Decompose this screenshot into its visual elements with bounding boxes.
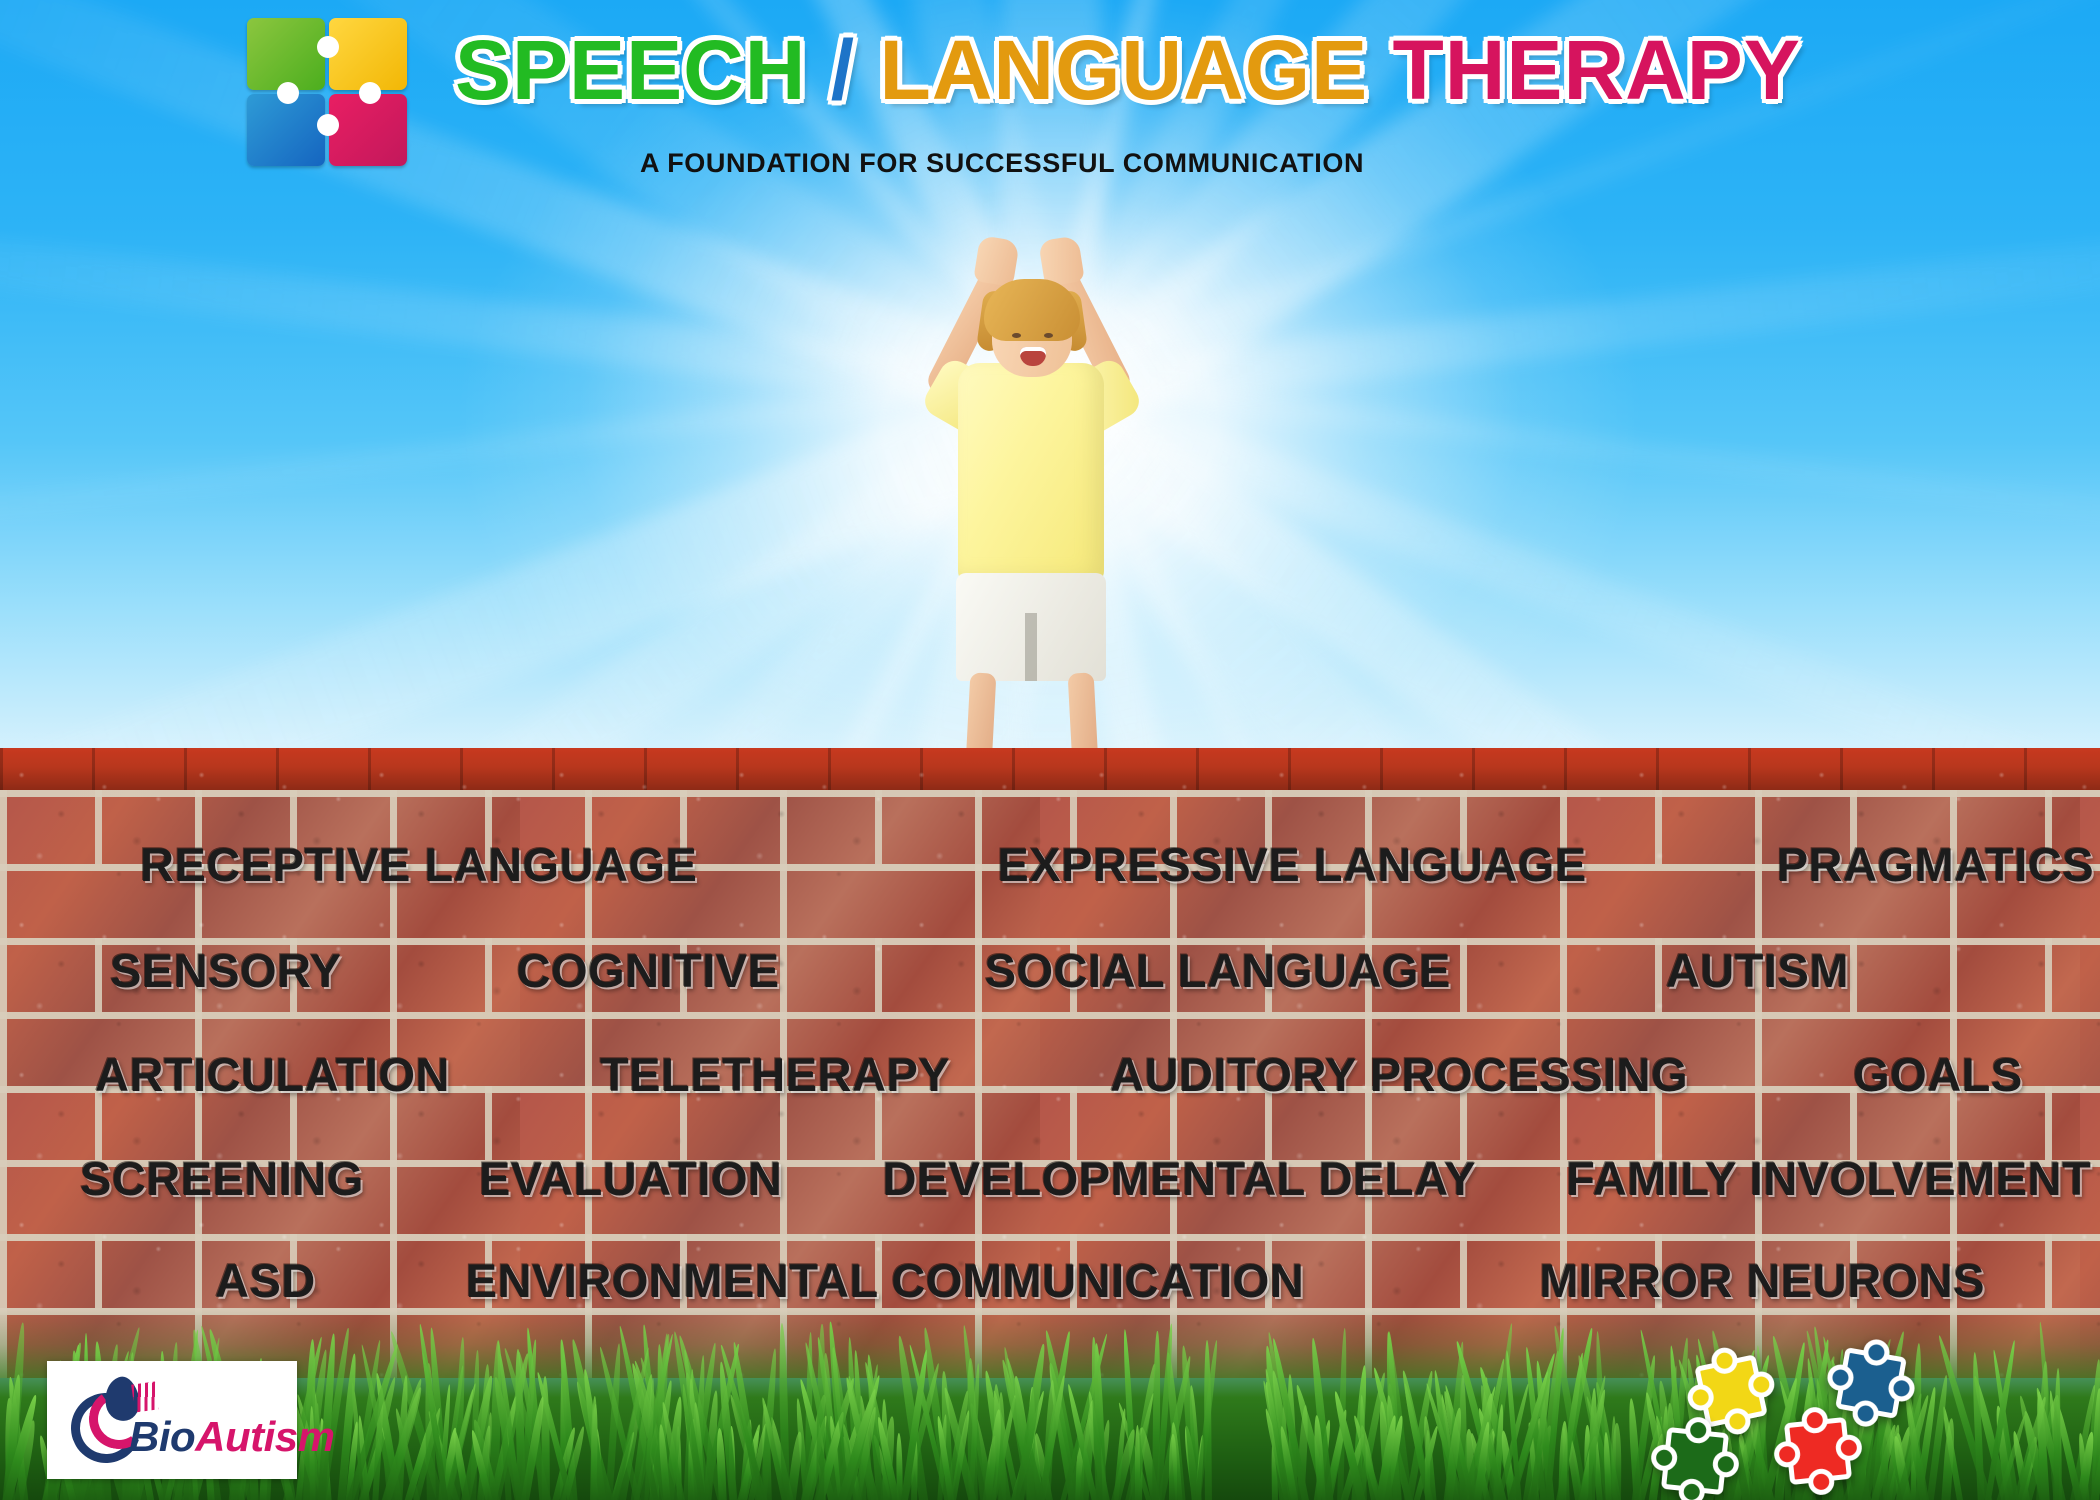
keyword-label: TELETHERAPY [600,1047,950,1102]
keyword-label: PRAGMATICS [1777,837,2094,892]
keyword-label: DEVELOPMENTAL DELAY [882,1151,1476,1206]
wall-coping-row [0,748,2100,790]
keyword-label: COGNITIVE [517,943,780,998]
page-title: SPEECH / LANGUAGE THERAPY [455,22,1875,118]
keyword-row: ARTICULATIONTELETHERAPYAUDITORY PROCESSI… [0,1022,2100,1126]
child-hair [984,279,1080,341]
poster-canvas: SPEECH / LANGUAGE THERAPY A FOUNDATION F… [0,0,2100,1500]
keyword-label: GOALS [1853,1047,2023,1102]
child-shirt [958,363,1104,585]
keyword-label: SCREENING [80,1151,364,1206]
puzzle-nub [317,114,339,136]
keyword-label: ARTICULATION [95,1047,450,1102]
keyword-label: FAMILY INVOLVEMENT [1566,1151,2091,1206]
puzzle-nub [359,82,381,104]
four-piece-puzzle-icon [247,18,412,170]
keyword-label: AUTISM [1666,943,1849,998]
child-shorts [956,573,1106,681]
keyword-rows: RECEPTIVE LANGUAGEEXPRESSIVE LANGUAGEPRA… [0,790,2100,1350]
puzzle-piece-red [1771,1404,1866,1499]
bioautism-logo[interactable]: BioAutism [47,1361,297,1479]
keyword-label: AUDITORY PROCESSING [1110,1047,1688,1102]
child-hand-left [973,235,1020,287]
puzzle-quadrant-yellow [329,18,407,90]
puzzle-quadrant-blue [247,94,325,166]
poster-header: SPEECH / LANGUAGE THERAPY A FOUNDATION F… [0,0,2100,200]
page-subtitle: A FOUNDATION FOR SUCCESSFUL COMMUNICATIO… [640,148,1540,179]
swirl-lines [131,1381,159,1412]
keyword-row: SENSORYCOGNITIVESOCIAL LANGUAGEAUTISM [0,918,2100,1022]
jumping-child-image [880,195,1180,760]
child-eye-left [1012,333,1021,338]
keyword-label: ASD [215,1253,316,1308]
title-word-therapy: THERAPY [1368,23,1801,117]
puzzle-quadrant-pink [329,94,407,166]
keyword-row: RECEPTIVE LANGUAGEEXPRESSIVE LANGUAGEPRA… [0,812,2100,916]
keyword-row: SCREENINGEVALUATIONDEVELOPMENTAL DELAYFA… [0,1126,2100,1230]
title-word-speech: SPEECH [455,23,806,117]
title-word-language: LANGUAGE [879,23,1368,117]
puzzle-nub [317,36,339,58]
keyword-label: SOCIAL LANGUAGE [985,943,1451,998]
puzzle-nub [277,82,299,104]
keyword-label: EVALUATION [479,1151,783,1206]
bioautism-wordmark: BioAutism [129,1413,335,1461]
brand-name-part1: Bio [129,1413,195,1460]
keyword-label: ENVIRONMENTAL COMMUNICATION [466,1253,1305,1308]
child-eye-right [1044,333,1053,338]
keyword-label: MIRROR NEURONS [1539,1253,1985,1308]
puzzle-piece-green [1648,1414,1743,1500]
keyword-label: EXPRESSIVE LANGUAGE [997,837,1586,892]
title-separator: / [806,23,879,117]
keyword-label: RECEPTIVE LANGUAGE [140,837,697,892]
keyword-label: SENSORY [110,943,342,998]
brand-name-part2: Autism [195,1413,334,1460]
puzzle-quadrant-green [247,18,325,90]
